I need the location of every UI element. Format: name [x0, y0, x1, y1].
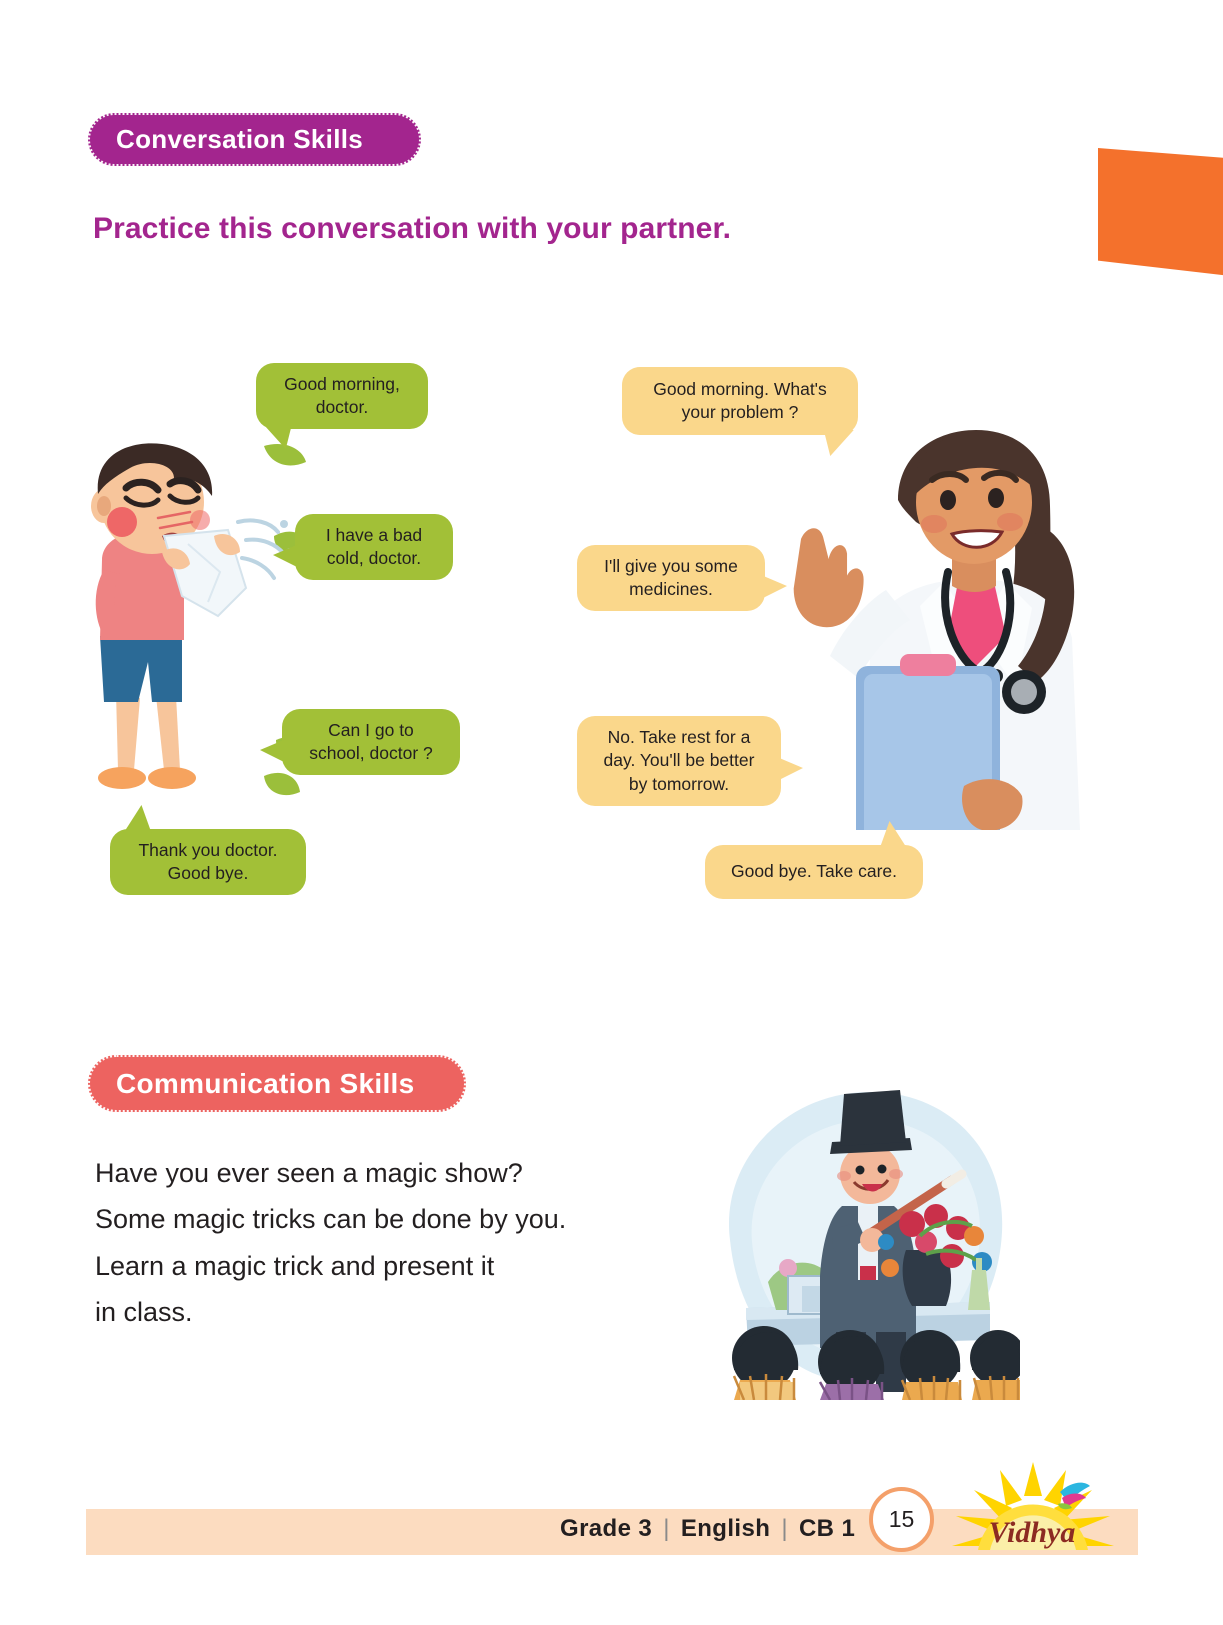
- child-bubble-4: Thank you doctor. Good bye.: [110, 829, 306, 895]
- footer-separator-1: |: [663, 1515, 670, 1543]
- doctor-bubble-1: Good morning. What's your problem ?: [622, 367, 858, 435]
- child-bubble-3: Can I go to school, doctor ?: [282, 709, 460, 775]
- communication-skills-banner: Communication Skills: [88, 1055, 466, 1112]
- doctor-illustration: [780, 430, 1090, 830]
- vidhya-logo: Vidhya: [948, 1450, 1118, 1562]
- communication-skills-banner-label: Communication Skills: [116, 1068, 415, 1100]
- footer-meta: Grade 3 | English | CB 1: [560, 1515, 855, 1543]
- child-bubble-1: Good morning, doctor.: [256, 363, 428, 429]
- conversation-instruction: Practice this conversation with your par…: [93, 212, 731, 246]
- communication-body-text: Have you ever seen a magic show? Some ma…: [95, 1150, 675, 1336]
- conversation-skills-banner: Conversation Skills: [88, 113, 421, 166]
- footer-book: CB 1: [799, 1515, 855, 1543]
- textbook-page: Conversation Skills Practice this conver…: [0, 0, 1223, 1625]
- conversation-skills-banner-label: Conversation Skills: [116, 124, 363, 155]
- magic-show-illustration: [690, 1070, 1020, 1400]
- vidhya-wordmark: Vidhya: [989, 1516, 1076, 1549]
- footer-separator-2: |: [781, 1515, 788, 1543]
- page-number-badge: 15: [869, 1487, 934, 1552]
- doctor-bubble-2: I'll give you some medicines.: [577, 545, 765, 611]
- page-number: 15: [889, 1506, 915, 1533]
- doctor-bubble-3: No. Take rest for a day. You'll be bette…: [577, 716, 781, 806]
- footer-subject: English: [681, 1515, 770, 1543]
- doctor-bubble-4: Good bye. Take care.: [705, 845, 923, 899]
- orange-corner-tab: [1098, 148, 1223, 276]
- child-bubble-2: I have a bad cold, doctor.: [295, 514, 453, 580]
- footer-grade: Grade 3: [560, 1515, 652, 1543]
